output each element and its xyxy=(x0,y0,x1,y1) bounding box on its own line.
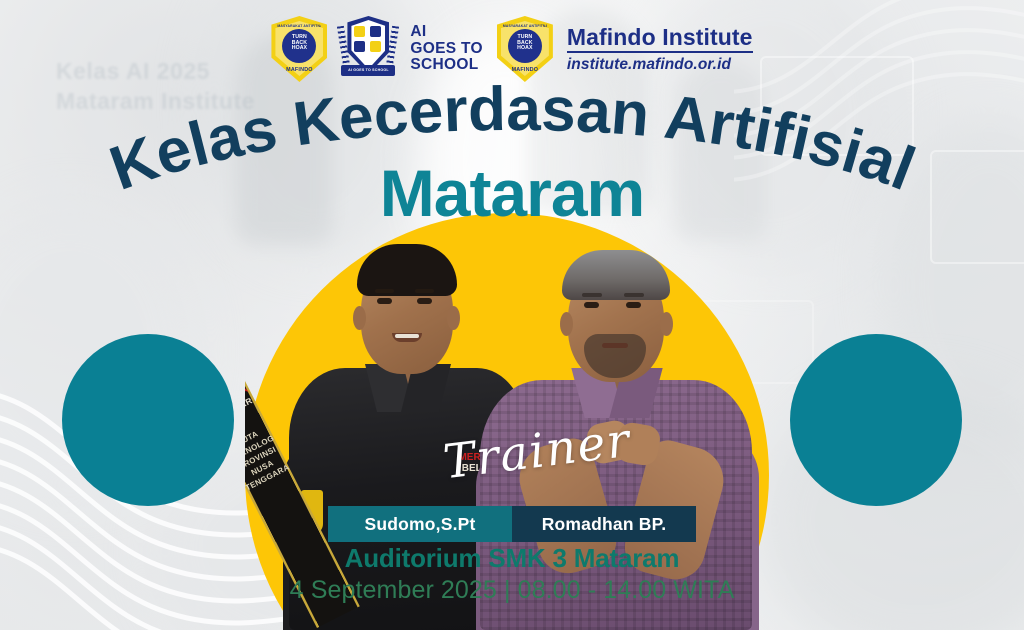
mafindo-institute-title: Mafindo Institute xyxy=(567,24,753,53)
ags-line-3: SCHOOL xyxy=(410,57,482,74)
poster-root: Kelas AI 2025 Mataram Institute xyxy=(0,0,1024,630)
speaker-name-badges: Sudomo,S.Pt Romadhan BP. xyxy=(0,506,1024,542)
shield-quadrant-icon xyxy=(370,26,381,37)
sash-belajar-text: BELAJAR xyxy=(245,394,256,425)
shield-quadrant-icon xyxy=(354,26,365,37)
mafindo-brand-text: MAFINDO xyxy=(271,67,327,73)
header-logo-bar: MASYARAKAT ANTIFITNAH INDONESIA TURN BAC… xyxy=(0,14,1024,84)
ai-goes-to-school-wordmark: AI GOES TO SCHOOL xyxy=(410,24,482,74)
decor-circle-left xyxy=(62,334,234,506)
mafindo-institute-wordmark[interactable]: Mafindo Institute institute.mafindo.or.i… xyxy=(567,24,753,74)
mafindo-arc-text: MASYARAKAT ANTIFITNAH INDONESIA xyxy=(277,24,321,28)
mafindo-center-line3: HOAX xyxy=(497,46,553,52)
ags-line-1: AI xyxy=(410,24,482,41)
shield-quadrant-icon xyxy=(354,41,365,52)
event-datetime: 4 September 2025 | 08.00 - 14.00 WITA xyxy=(0,576,1024,605)
decor-circle-right xyxy=(790,334,962,506)
event-venue: Auditorium SMK 3 Mataram xyxy=(0,543,1024,574)
mafindo-brand-text: MAFINDO xyxy=(497,67,553,73)
mafindo-arc-text: MASYARAKAT ANTIFITNAH INDONESIA xyxy=(503,24,547,28)
speaker-badge-sudomo: Sudomo,S.Pt xyxy=(328,506,512,542)
mafindo-center-line3: HOAX xyxy=(271,46,327,52)
shield-quadrant-icon xyxy=(370,41,381,52)
city-subtitle: Mataram xyxy=(0,158,1024,228)
ags-line-2: GOES TO xyxy=(410,41,482,58)
speaker-badge-romadhan: Romadhan BP. xyxy=(512,506,696,542)
shield-ribbon-text: AI GOES TO SCHOOL xyxy=(341,65,395,76)
ai-goes-to-school-shield-icon: AI GOES TO SCHOOL xyxy=(337,14,399,84)
mafindo-institute-url[interactable]: institute.mafindo.or.id xyxy=(567,55,753,74)
sash-main-text: DUTA TEKNOLOGI PROVINSI NUSA TENGGARA xyxy=(245,423,291,494)
mafindo-shield-icon: MASYARAKAT ANTIFITNAH INDONESIA TURN BAC… xyxy=(497,16,553,82)
mafindo-shield-icon: MASYARAKAT ANTIFITNAH INDONESIA TURN BAC… xyxy=(271,16,327,82)
